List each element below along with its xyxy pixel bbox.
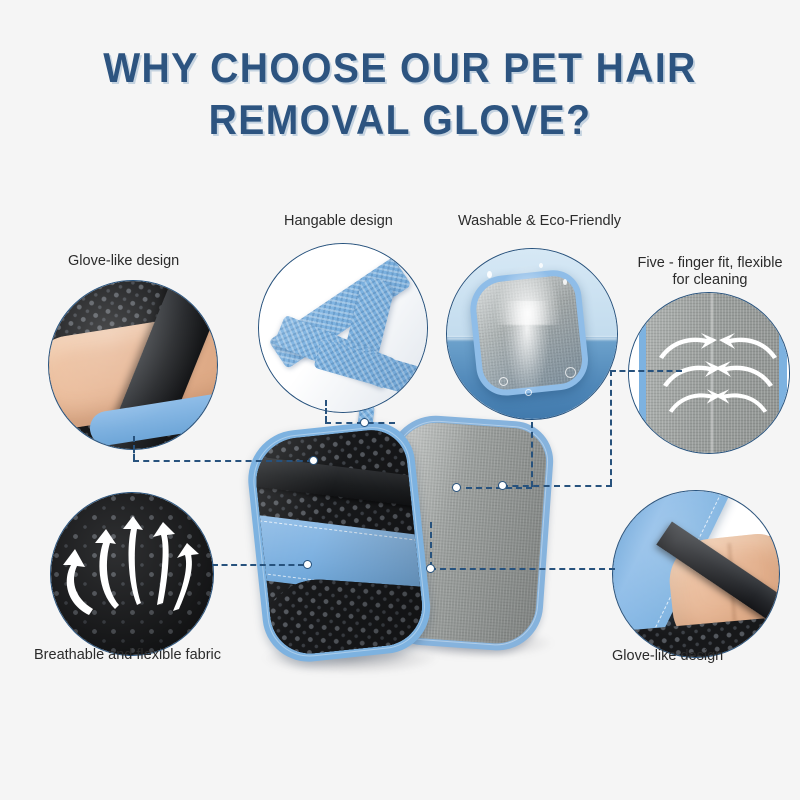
feature-circle-breathable-fabric[interactable]: [50, 492, 214, 656]
flex-arrows-fabric-icon: [629, 293, 789, 453]
product-mitt-front: [243, 418, 434, 666]
airflow-arrow-5: [163, 541, 203, 613]
airflow-arrows-mesh-icon: [51, 493, 213, 655]
connector-line-glove-left-horizontal: [133, 460, 313, 462]
arm-in-glove-strap-icon: [49, 281, 217, 449]
connector-stub-glove-left: [133, 448, 135, 462]
feature-circle-washable-eco-friendly[interactable]: [446, 248, 618, 420]
feature-label-breathable-fabric: Breathable and flexible fabric: [34, 647, 221, 664]
connector-line-hangable-vertical: [325, 400, 327, 422]
feature-label-glove-like-design-right: Glove-like design: [612, 648, 723, 665]
feature-circle-five-finger-fit[interactable]: [628, 292, 790, 454]
glove-in-water-splash-icon: [447, 249, 617, 419]
product-image: [255, 390, 555, 680]
feature-label-five-finger-fit: Five - finger fit, flexible for cleaning: [620, 255, 800, 289]
feature-circle-glove-like-design-left[interactable]: [48, 280, 218, 450]
feature-circle-glove-like-design-right[interactable]: [612, 490, 780, 658]
connector-line-fivefinger-vertical: [610, 370, 612, 485]
feature-label-hangable-design: Hangable design: [284, 213, 393, 230]
hotspot-dot-washable[interactable]: [452, 483, 461, 492]
feature-circle-hangable-design[interactable]: [258, 243, 428, 413]
connector-line-fivefinger-horizontal-top: [610, 370, 682, 372]
hotspot-dot-glove-left[interactable]: [309, 456, 318, 465]
hotspot-dot-breathable[interactable]: [303, 560, 312, 569]
flex-arrow-right-1: [657, 331, 719, 361]
flex-arrow-left-1: [717, 331, 779, 361]
connector-line-breathable-horizontal: [212, 564, 304, 566]
hand-in-glove-icon: [613, 491, 779, 657]
page-title: WHY CHOOSE OUR PET HAIR REMOVAL GLOVE?: [28, 42, 772, 146]
hotspot-dot-glove-right[interactable]: [426, 564, 435, 573]
page-title-line-2: REMOVAL GLOVE?: [28, 94, 772, 146]
hanging-loop-icon: [259, 244, 427, 412]
connector-line-gloveright-horizontal: [430, 568, 615, 570]
connector-line-fivefinger-horizontal-bottom: [502, 485, 612, 487]
connector-line-gloveright-vertical: [430, 522, 432, 568]
flex-arrow-left-3: [713, 387, 769, 415]
feature-label-washable-eco-friendly: Washable & Eco-Friendly: [458, 213, 621, 230]
page-title-line-1: WHY CHOOSE OUR PET HAIR: [103, 44, 696, 91]
hotspot-dot-hangable[interactable]: [360, 418, 369, 427]
connector-line-washable-vertical: [531, 422, 533, 487]
hotspot-dot-fivefinger[interactable]: [498, 481, 507, 490]
infographic-canvas: WHY CHOOSE OUR PET HAIR REMOVAL GLOVE?: [0, 0, 800, 800]
flex-arrow-left-2: [713, 359, 775, 389]
feature-label-glove-like-design-left: Glove-like design: [68, 253, 179, 270]
